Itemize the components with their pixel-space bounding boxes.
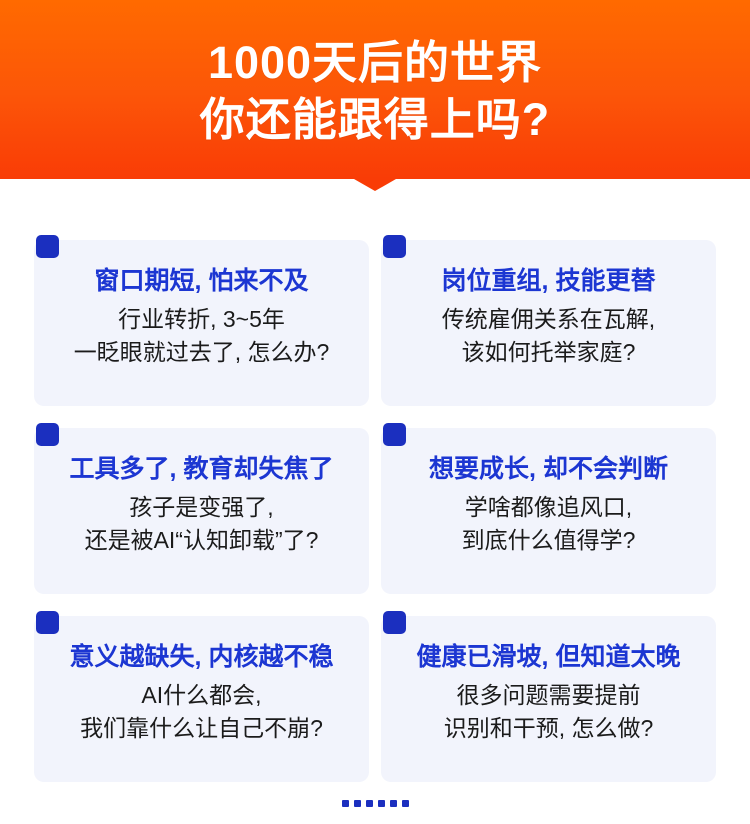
footer-dot — [390, 800, 397, 807]
card-body-line: 我们靠什么让自己不崩? — [80, 712, 323, 745]
concern-card-2[interactable]: 岗位重组, 技能更替 传统雇佣关系在瓦解, 该如何托举家庭? — [381, 240, 716, 406]
concern-card-4[interactable]: 想要成长, 却不会判断 学啥都像追风口, 到底什么值得学? — [381, 428, 716, 594]
card-body: 传统雇佣关系在瓦解, 该如何托举家庭? — [442, 303, 655, 368]
hero-banner: 1000天后的世界 你还能跟得上吗? — [0, 0, 750, 179]
card-body-line: 还是被AI“认知卸载”了? — [85, 524, 319, 557]
card-badge-square-icon — [383, 423, 406, 446]
card-badge-square-icon — [36, 423, 59, 446]
card-body-line: 行业转折, 3~5年 — [74, 303, 330, 336]
card-badge-square-icon — [383, 611, 406, 634]
concern-card-grid: 窗口期短, 怕来不及 行业转折, 3~5年 一眨眼就过去了, 怎么办? 岗位重组… — [34, 240, 716, 782]
footer-dot — [402, 800, 409, 807]
card-body: AI什么都会, 我们靠什么让自己不崩? — [80, 679, 323, 744]
footer-dot — [378, 800, 385, 807]
card-body-line: 识别和干预, 怎么做? — [444, 712, 654, 745]
card-title: 岗位重组, 技能更替 — [442, 266, 656, 297]
card-title: 想要成长, 却不会判断 — [429, 454, 668, 485]
card-body-line: 传统雇佣关系在瓦解, — [442, 303, 655, 336]
footer-dot-separator — [0, 800, 750, 807]
card-body: 行业转折, 3~5年 一眨眼就过去了, 怎么办? — [74, 303, 330, 368]
card-title: 工具多了, 教育却失焦了 — [70, 454, 334, 485]
hero-title-line-2: 你还能跟得上吗? — [200, 94, 551, 146]
concern-card-6[interactable]: 健康已滑坡, 但知道太晚 很多问题需要提前 识别和干预, 怎么做? — [381, 616, 716, 782]
card-title: 意义越缺失, 内核越不稳 — [70, 642, 334, 673]
card-badge-square-icon — [36, 235, 59, 258]
card-body: 孩子是变强了, 还是被AI“认知卸载”了? — [85, 491, 319, 556]
card-body-line: 该如何托举家庭? — [442, 336, 655, 369]
card-badge-square-icon — [383, 235, 406, 258]
card-title: 窗口期短, 怕来不及 — [95, 266, 309, 297]
concern-card-5[interactable]: 意义越缺失, 内核越不稳 AI什么都会, 我们靠什么让自己不崩? — [34, 616, 369, 782]
card-body-line: 到底什么值得学? — [462, 524, 636, 557]
footer-dot — [354, 800, 361, 807]
footer-dot — [366, 800, 373, 807]
card-body: 学啥都像追风口, 到底什么值得学? — [462, 491, 636, 556]
card-badge-square-icon — [36, 611, 59, 634]
card-body-line: 学啥都像追风口, — [462, 491, 636, 524]
concern-card-1[interactable]: 窗口期短, 怕来不及 行业转折, 3~5年 一眨眼就过去了, 怎么办? — [34, 240, 369, 406]
card-body-line: 一眨眼就过去了, 怎么办? — [74, 336, 330, 369]
hero-title-line-1: 1000天后的世界 — [208, 37, 542, 89]
card-body: 很多问题需要提前 识别和干预, 怎么做? — [444, 679, 654, 744]
card-body-line: 很多问题需要提前 — [444, 679, 654, 712]
card-title: 健康已滑坡, 但知道太晚 — [417, 642, 681, 673]
concern-card-3[interactable]: 工具多了, 教育却失焦了 孩子是变强了, 还是被AI“认知卸载”了? — [34, 428, 369, 594]
footer-dot — [342, 800, 349, 807]
card-body-line: 孩子是变强了, — [85, 491, 319, 524]
card-body-line: AI什么都会, — [80, 679, 323, 712]
hero-notch-arrow-icon — [354, 179, 396, 191]
